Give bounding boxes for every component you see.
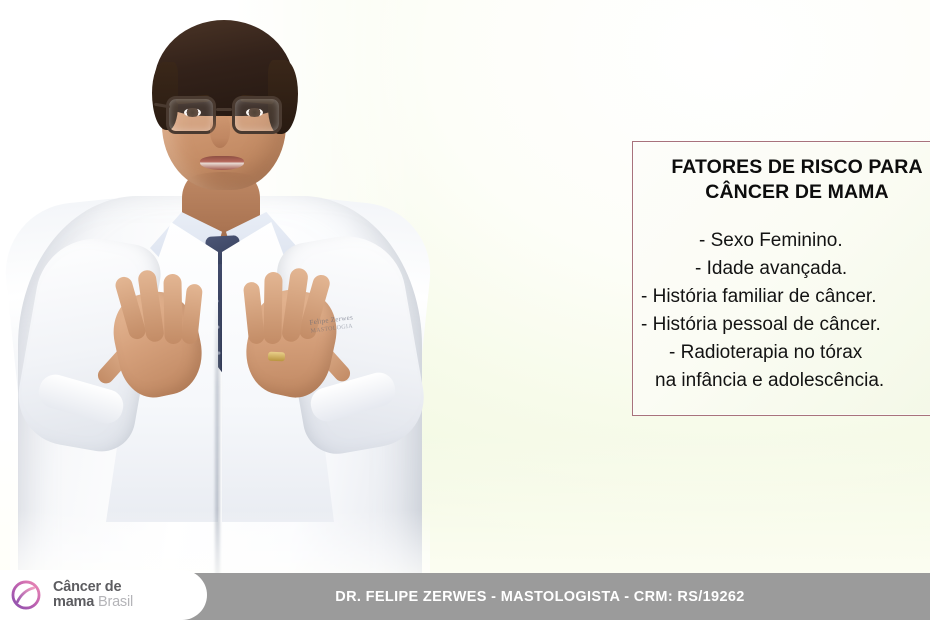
chin-shadow bbox=[188, 172, 258, 190]
finger-right-3 bbox=[263, 272, 282, 344]
brand-logo-panel: Câncer de mama Brasil bbox=[0, 570, 207, 620]
eyeglasses-lens-right bbox=[232, 96, 282, 134]
slide-title: FATORES DE RISCO PARA CÂNCER DE MAMA bbox=[633, 155, 930, 205]
eyeglasses-bridge bbox=[216, 108, 232, 111]
risk-factor-item: - Radioterapia no tórax bbox=[633, 339, 930, 367]
risk-factor-item: - História pessoal de câncer. bbox=[633, 311, 930, 339]
presenter-figure: Felipe Zerwes MASTOLOGIA bbox=[10, 0, 430, 600]
nose bbox=[210, 114, 230, 148]
video-frame: Felipe Zerwes MASTOLOGIA FATORES DE RISC… bbox=[0, 0, 930, 620]
risk-factor-item: na infância e adolescência. bbox=[633, 367, 930, 395]
brand-logo-text: Câncer de mama Brasil bbox=[53, 580, 133, 610]
slide-title-line-1: FATORES DE RISCO PARA bbox=[671, 156, 922, 178]
brand-mama: mama bbox=[53, 594, 94, 610]
cancer-de-mama-brasil-ribbon-icon bbox=[8, 577, 44, 613]
brand-brasil-word: Brasil bbox=[98, 594, 133, 610]
slide-title-line-2: CÂNCER DE MAMA bbox=[633, 180, 930, 205]
risk-factors-slide: FATORES DE RISCO PARA CÂNCER DE MAMA - S… bbox=[632, 141, 930, 416]
risk-factors-list: - Sexo Feminino. - Idade avançada. - His… bbox=[633, 227, 930, 395]
risk-factor-item: - Sexo Feminino. bbox=[633, 227, 930, 255]
brand-line-2: mama Brasil bbox=[53, 595, 133, 610]
mouth bbox=[200, 156, 244, 170]
risk-factor-item: - Idade avançada. bbox=[633, 255, 930, 283]
eyeglasses-lens-left bbox=[166, 96, 216, 134]
brand-line-1: Câncer de bbox=[53, 580, 133, 595]
wedding-ring bbox=[268, 352, 285, 362]
finger-left-3 bbox=[163, 274, 182, 344]
risk-factor-item: - História familiar de câncer. bbox=[633, 283, 930, 311]
